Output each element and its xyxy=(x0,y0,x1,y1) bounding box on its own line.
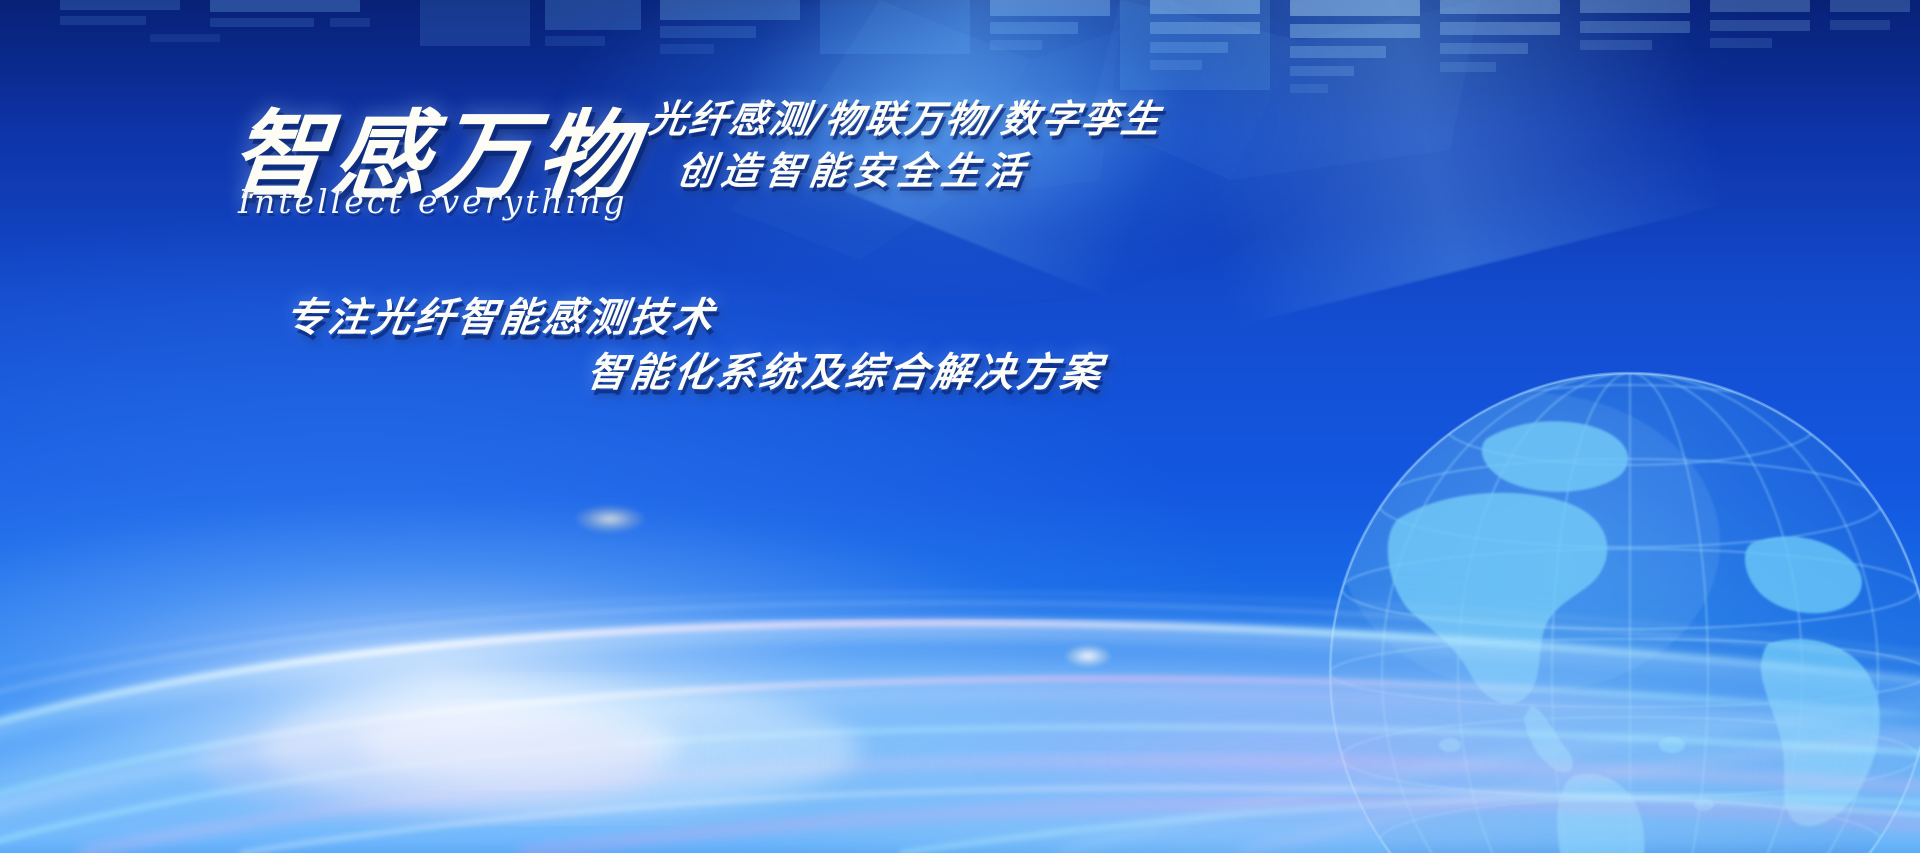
globe-wireframe-graphic xyxy=(1300,343,1920,853)
light-beam-graphic-2 xyxy=(1144,0,1736,328)
slogan-line-1: 光纤感测/物联万物/数字孪生 xyxy=(646,88,1165,143)
light-haze-glow xyxy=(0,493,1140,823)
tech-banner: 智感万物 Intellect everything 光纤感测/物联万物/数字孪生… xyxy=(0,0,1920,853)
light-haze-glow-2 xyxy=(640,593,1920,853)
slogan-line-2: 创造智能安全生活 xyxy=(674,140,1034,195)
light-swoosh-graphic xyxy=(0,433,1920,853)
lens-flare-graphic xyxy=(575,505,645,533)
tagline-line-2: 智能化系统及综合解决方案 xyxy=(584,340,1108,398)
tagline-line-1: 专注光纤智能感测技术 xyxy=(282,285,720,343)
page-subtitle-english: Intellect everything xyxy=(238,182,628,221)
lens-flare-graphic-2 xyxy=(1065,645,1111,667)
